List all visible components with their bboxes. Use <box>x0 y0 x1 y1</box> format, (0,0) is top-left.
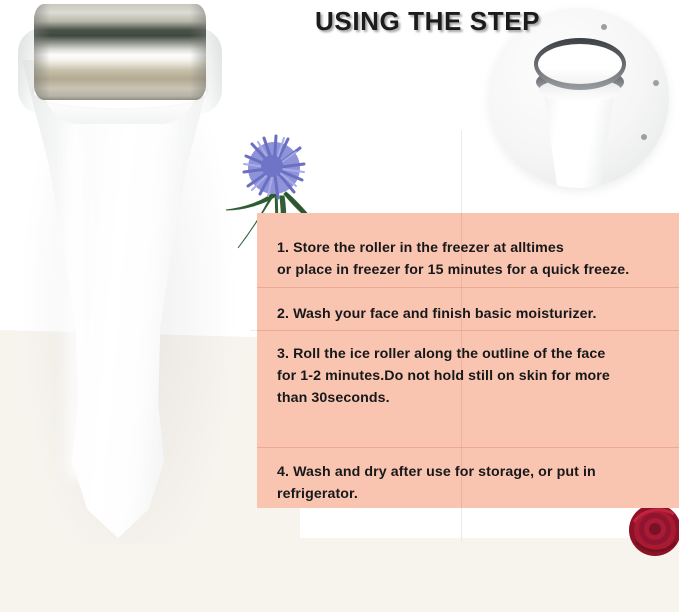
instruction-step-1: 1. Store the roller in the freezer at al… <box>257 237 679 281</box>
step-1-line-2: or place in freezer for 15 minutes for a… <box>277 259 671 281</box>
step-4-line-2: refrigerator. <box>277 483 671 505</box>
step-4-line-1: 4. Wash and dry after use for storage, o… <box>277 461 671 483</box>
inset-dot <box>653 80 659 86</box>
roller-handle-highlight <box>58 120 92 480</box>
roller-head-cap-left <box>34 4 50 100</box>
step-2-line-1: 2. Wash your face and finish basic moist… <box>277 303 671 325</box>
step-3-line-3: than 30seconds. <box>277 387 671 409</box>
inset-dot <box>641 134 647 140</box>
step-separator <box>257 287 679 288</box>
instructions-panel: 1. Store the roller in the freezer at al… <box>257 213 679 508</box>
flower-petals <box>244 136 304 198</box>
step-1-line-1: 1. Store the roller in the freezer at al… <box>277 237 671 259</box>
product-infographic: USING THE STEP <box>0 0 679 612</box>
rose-icon <box>628 500 679 560</box>
roller-metal-head <box>34 4 206 100</box>
step-separator <box>257 447 679 448</box>
cream-band-bottom <box>0 538 679 612</box>
step-3-line-1: 3. Roll the ice roller along the outline… <box>277 343 671 365</box>
step-separator <box>257 330 679 331</box>
step-3-line-2: for 1-2 minutes.Do not hold still on ski… <box>277 365 671 387</box>
roller-head-cap-right <box>190 4 206 100</box>
inset-roller-surface <box>538 44 622 84</box>
page-title: USING THE STEP <box>315 6 540 37</box>
rose-petals <box>629 504 679 556</box>
instruction-step-3: 3. Roll the ice roller along the outline… <box>257 343 679 409</box>
instruction-step-2: 2. Wash your face and finish basic moist… <box>257 303 679 325</box>
instruction-step-4: 4. Wash and dry after use for storage, o… <box>257 461 679 505</box>
inset-dot <box>601 24 607 30</box>
